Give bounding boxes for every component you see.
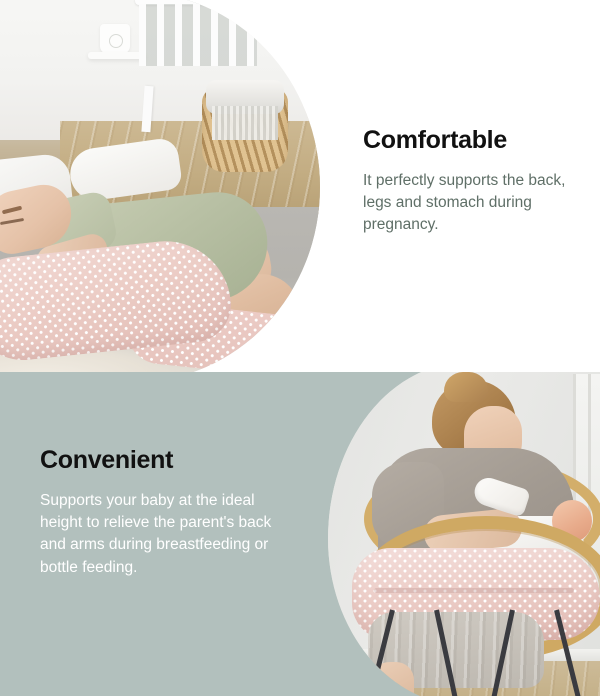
photo-pregnancy-pillow-scene bbox=[0, 0, 320, 372]
chair-leg bbox=[434, 609, 458, 696]
body-convenient: Supports your baby at the ideal height t… bbox=[40, 490, 296, 580]
text-block-comfortable: Comfortable It perfectly supports the ba… bbox=[363, 126, 589, 237]
chair-leg bbox=[554, 609, 581, 696]
photo-nursing-pillow-scene bbox=[328, 372, 600, 696]
chair-legs bbox=[372, 610, 578, 696]
section-convenient: Convenient Supports your baby at the ide… bbox=[0, 372, 600, 696]
nightlight-icon bbox=[100, 24, 130, 54]
text-block-convenient: Convenient Supports your baby at the ide… bbox=[40, 446, 296, 579]
photo-nursing-pillow bbox=[328, 372, 600, 696]
heading-convenient: Convenient bbox=[40, 446, 296, 476]
blanket-basket bbox=[202, 88, 288, 172]
product-feature-graphic: Comfortable It perfectly supports the ba… bbox=[0, 0, 600, 696]
chair-leg bbox=[368, 609, 395, 696]
photo-pregnancy-pillow bbox=[0, 0, 320, 372]
heading-comfortable: Comfortable bbox=[363, 126, 589, 156]
crib-slats bbox=[139, 4, 257, 66]
chair-leg bbox=[491, 609, 515, 696]
body-comfortable: It perfectly supports the back, legs and… bbox=[363, 170, 589, 237]
section-comfortable: Comfortable It perfectly supports the ba… bbox=[0, 0, 600, 372]
mother-hair-bun bbox=[444, 372, 488, 402]
